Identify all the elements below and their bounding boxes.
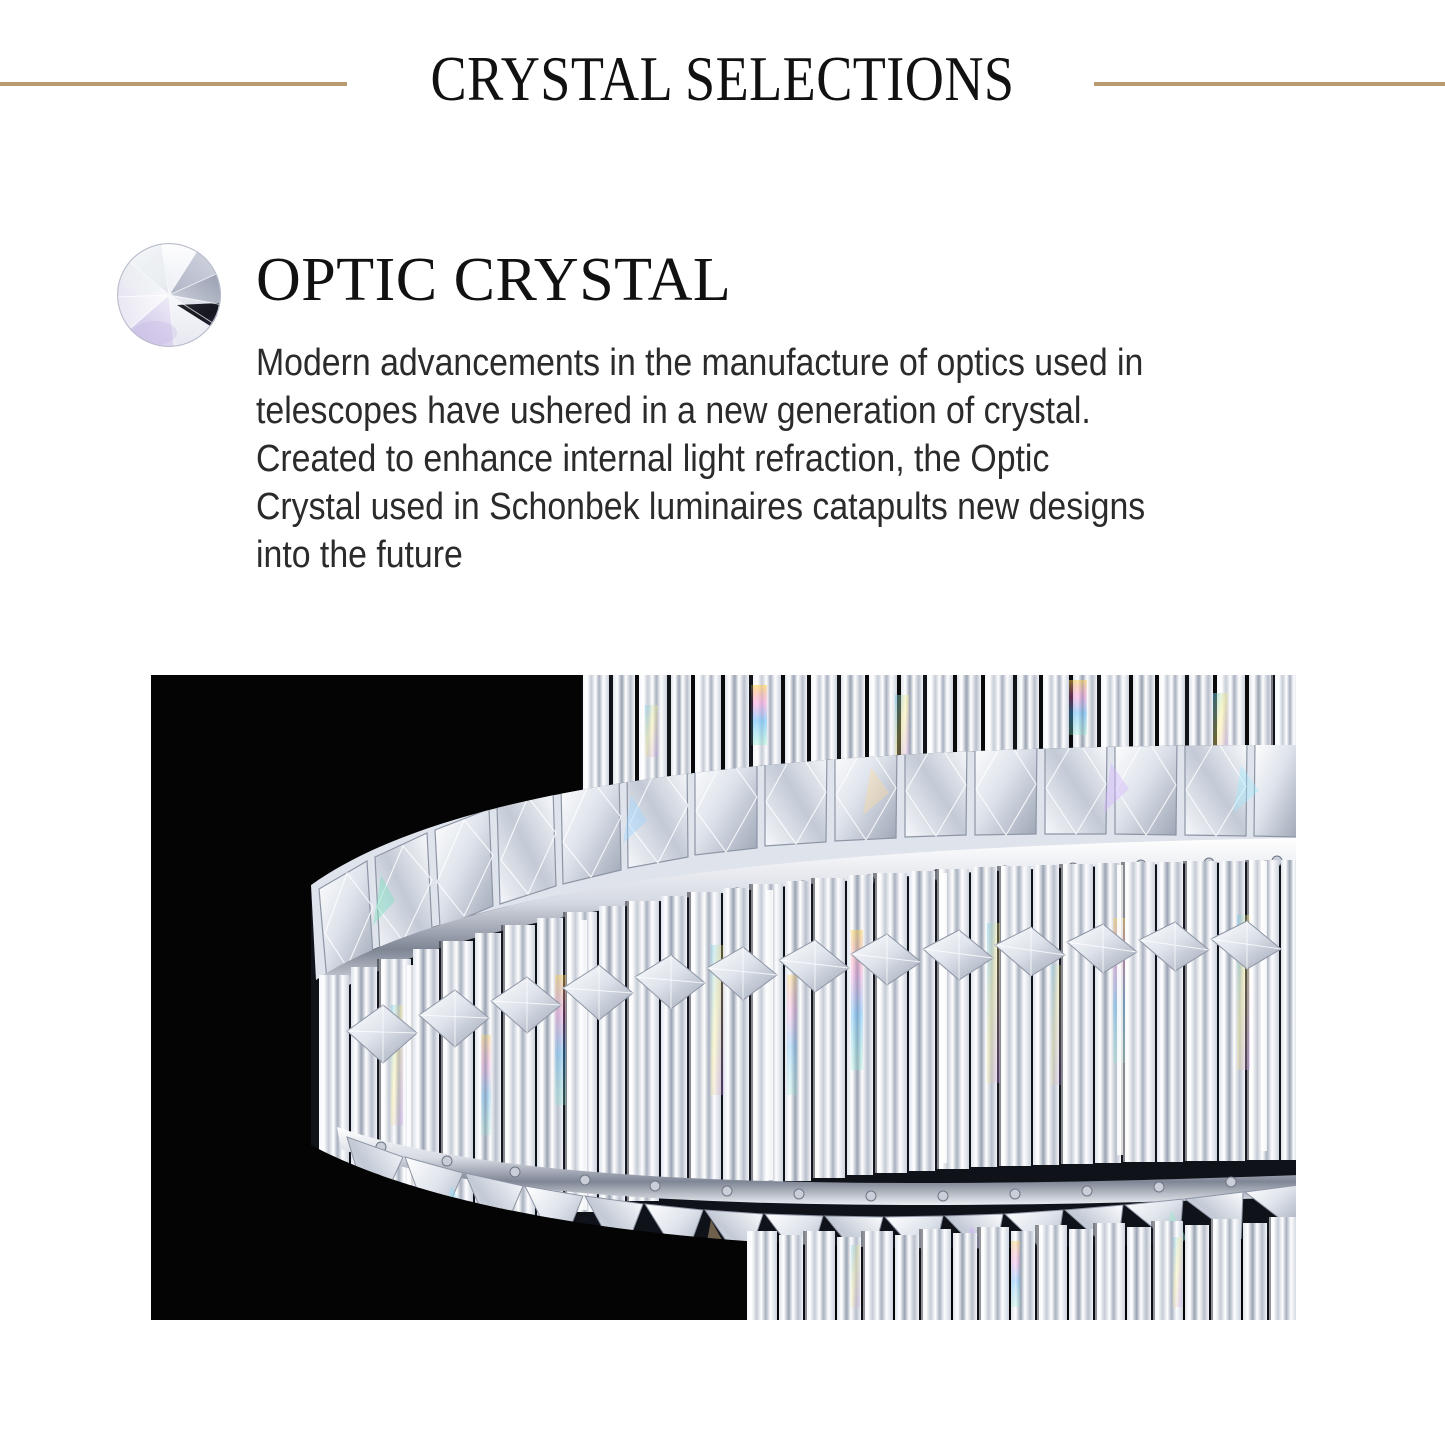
- section-body-text: Modern advancements in the manufacture o…: [256, 339, 1164, 579]
- page-header: CRYSTAL SELECTIONS: [0, 0, 1445, 150]
- optic-crystal-gem-icon: [115, 241, 223, 349]
- page-title: CRYSTAL SELECTIONS: [101, 48, 1344, 111]
- section-heading: OPTIC CRYSTAL: [256, 249, 731, 311]
- optic-crystal-chandelier-photo: [151, 675, 1296, 1320]
